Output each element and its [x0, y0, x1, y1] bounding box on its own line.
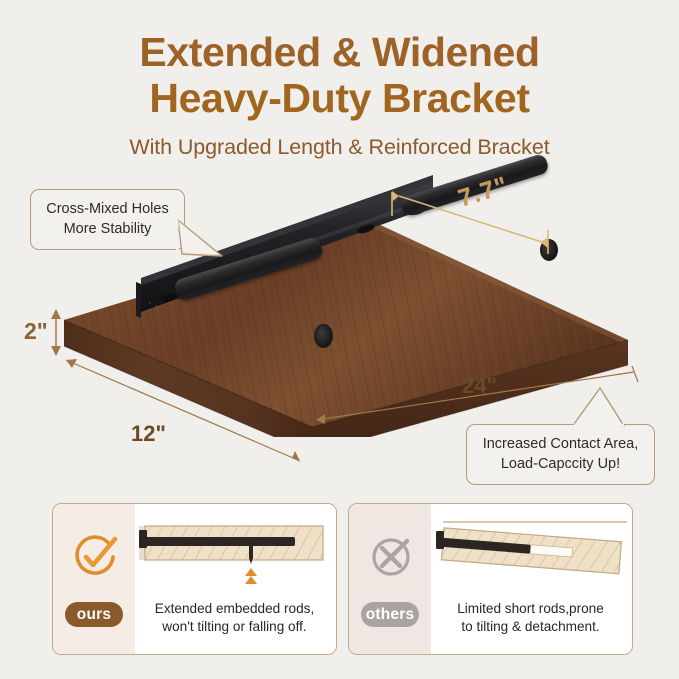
caption-line-2: won't tilting or falling off. — [139, 618, 330, 636]
badge-others: others — [361, 602, 419, 627]
comparison-panel-ours: ours — [52, 503, 337, 655]
rod-end-cap-upper — [540, 239, 558, 261]
callout-tail-cross-mixed-holes — [176, 218, 236, 270]
caption-others: Limited short rods,prone to tilting & de… — [435, 600, 626, 636]
comparison-panel-others: others — [348, 503, 633, 655]
page-title-line-2: Heavy-Duty Bracket — [0, 76, 679, 122]
comparison-panels: ours — [0, 503, 679, 663]
header-block: Extended & Widened Heavy-Duty Bracket Wi… — [0, 30, 679, 160]
figure-short-rod — [431, 508, 633, 600]
dimension-label-depth: 12" — [131, 421, 166, 447]
figure-extended-rod — [135, 508, 337, 600]
caption-line-1: Limited short rods,prone — [435, 600, 626, 618]
infographic-canvas: Extended & Widened Heavy-Duty Bracket Wi… — [0, 0, 679, 679]
callout-line-1: Increased Contact Area, — [479, 434, 642, 454]
callout-line-2: Load-Capccity Up! — [479, 454, 642, 474]
dimension-label-width: 24" — [462, 373, 497, 399]
callout-cross-mixed-holes: Cross-Mixed Holes More Stability — [30, 189, 185, 250]
circle-check-icon — [70, 532, 120, 582]
caption-line-1: Extended embedded rods, — [139, 600, 330, 618]
page-subtitle: With Upgraded Length & Reinforced Bracke… — [0, 135, 679, 160]
page-title-line-1: Extended & Widened — [0, 30, 679, 76]
caption-ours: Extended embedded rods, won't tilting or… — [139, 600, 330, 636]
caption-line-2: to tilting & detachment. — [435, 618, 626, 636]
callout-tail-increased-contact-area — [566, 386, 628, 430]
callout-line-2: More Stability — [43, 219, 172, 239]
dimension-label-thickness: 2" — [24, 318, 48, 345]
circle-x-icon — [366, 532, 416, 582]
callout-increased-contact-area: Increased Contact Area, Load-Capccity Up… — [466, 424, 655, 485]
badge-ours: ours — [65, 602, 123, 627]
callout-line-1: Cross-Mixed Holes — [43, 199, 172, 219]
rod-end-cap-lower — [314, 324, 333, 348]
